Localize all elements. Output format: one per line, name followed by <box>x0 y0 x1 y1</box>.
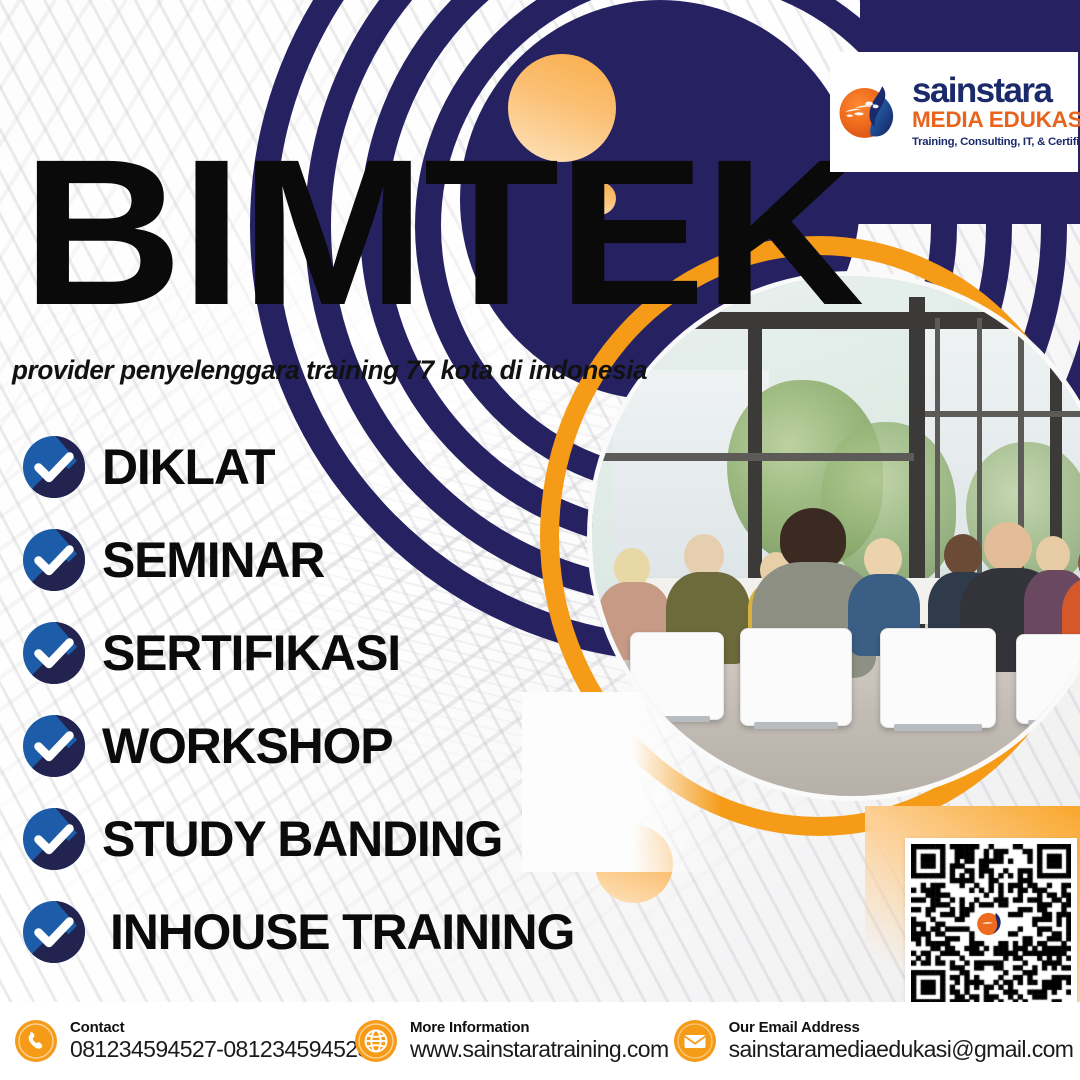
contact-phone[interactable]: Contact 081234594527-081234594528 <box>14 1019 344 1063</box>
page-subtitle: provider penyelenggara training 77 kota … <box>12 355 647 386</box>
photo-chair-leg-2 <box>754 722 838 729</box>
brand-logo: sainstara MEDIA EDUKASI Training, Consul… <box>830 52 1078 172</box>
contact-bar: Contact 081234594527-081234594528 <box>0 1002 1080 1080</box>
navy-logo-bar <box>836 168 1080 224</box>
photo-chair-1 <box>630 632 724 720</box>
check-circle-icon <box>22 621 86 685</box>
service-label: INHOUSE TRAINING <box>102 903 574 961</box>
contact-phone-text: Contact 081234594527-081234594528 <box>70 1019 370 1063</box>
contact-website-label: More Information <box>410 1019 529 1036</box>
envelope-icon <box>673 1019 717 1063</box>
service-label: DIKLAT <box>102 438 274 496</box>
contact-email[interactable]: Our Email Address sainstaramediaedukasi@… <box>673 1019 1080 1063</box>
contact-website[interactable]: More Information www.sainstaratraining.c… <box>354 1019 669 1063</box>
contact-phone-value: 081234594527-081234594528 <box>70 1036 370 1062</box>
photo-chair-leg-3 <box>894 724 982 731</box>
photo-chair-leg-1 <box>644 716 710 722</box>
service-item-inhouse-training: INHOUSE TRAINING <box>22 885 642 978</box>
service-item-seminar: SEMINAR <box>22 513 642 606</box>
photo-transom-2 <box>925 411 1080 417</box>
phone-icon <box>14 1019 58 1063</box>
check-circle-icon <box>22 435 86 499</box>
sainstara-logo-icon <box>974 907 1008 941</box>
page-title: BIMTEK <box>22 152 862 314</box>
contact-phone-label: Contact <box>70 1019 124 1036</box>
brand-wordmark: sainstara MEDIA EDUKASI Training, Consul… <box>908 74 1080 149</box>
check-circle-icon <box>22 900 86 964</box>
service-label: STUDY BANDING <box>102 810 502 868</box>
photo-chair-2 <box>740 628 852 726</box>
service-item-workshop: WORKSHOP <box>22 699 642 792</box>
brand-name-secondary: MEDIA EDUKASI <box>912 107 1080 132</box>
globe-icon <box>354 1019 398 1063</box>
photo-chair-3 <box>880 628 996 728</box>
check-circle-icon <box>22 528 86 592</box>
sainstara-flame-archipelago-logo-icon <box>834 75 908 149</box>
contact-email-label: Our Email Address <box>729 1019 860 1036</box>
service-item-study-banding: STUDY BANDING <box>22 792 642 885</box>
contact-website-value: www.sainstaratraining.com <box>410 1036 669 1062</box>
contact-website-text: More Information www.sainstaratraining.c… <box>410 1019 669 1063</box>
contact-email-text: Our Email Address sainstaramediaedukasi@… <box>729 1019 1080 1063</box>
services-list: DIKLAT SEMINAR SERTIFIKASI <box>22 420 642 978</box>
check-circle-icon <box>22 714 86 778</box>
brand-tagline: Training, Consulting, IT, & Certificatio… <box>912 136 1080 148</box>
service-label: SEMINAR <box>102 531 324 589</box>
poster-canvas: BIMTEK provider penyelenggara training 7… <box>0 0 1080 1080</box>
service-label: WORKSHOP <box>102 717 392 775</box>
service-item-sertifikasi: SERTIFIKASI <box>22 606 642 699</box>
photo-chair-4 <box>1016 634 1080 724</box>
qr-code[interactable] <box>905 838 1077 1010</box>
brand-name-primary: sainstara <box>912 71 1051 110</box>
training-photo <box>592 276 1080 796</box>
check-circle-icon <box>22 807 86 871</box>
photo-chair-leg-4 <box>1028 720 1080 726</box>
contact-email-value: sainstaramediaedukasi@gmail.com <box>729 1036 1074 1062</box>
service-label: SERTIFIKASI <box>102 624 400 682</box>
service-item-diklat: DIKLAT <box>22 420 642 513</box>
